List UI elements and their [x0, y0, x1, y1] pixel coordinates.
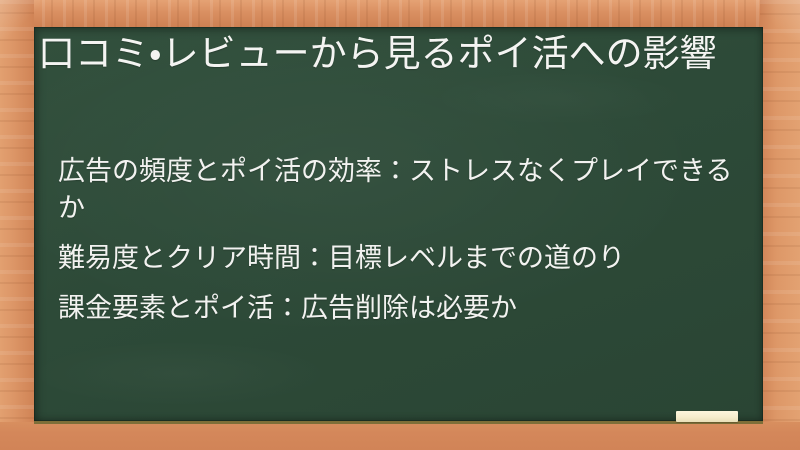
frame-rail-right: [760, 0, 800, 450]
chalkboard-slide: 口コミ・レビューから見るポイ活への影響 広告の頻度とポイ活の効率：ストレスなくプ…: [0, 0, 800, 450]
frame-rail-left: [0, 0, 34, 450]
frame-rail-top: [0, 0, 800, 28]
bullet-list: 広告の頻度とポイ活の効率：ストレスなくプレイできるか 難易度とクリア時間：目標レ…: [58, 153, 748, 327]
chalkboard-surface: 口コミ・レビューから見るポイ活への影響 広告の頻度とポイ活の効率：ストレスなくプ…: [34, 27, 763, 421]
board-bottom-lip: [34, 421, 763, 424]
bullet-item-3: 課金要素とポイ活：広告削除は必要か: [58, 290, 748, 327]
chalk-stick-icon: [676, 411, 738, 422]
bullet-item-2: 難易度とクリア時間：目標レベルまでの道のり: [58, 240, 748, 277]
bullet-item-1: 広告の頻度とポイ活の効率：ストレスなくプレイできるか: [58, 153, 748, 227]
slide-title: 口コミ・レビューから見るポイ活への影響: [38, 30, 738, 78]
frame-ledge-bottom: [0, 422, 800, 450]
slide-content: 口コミ・レビューから見るポイ活への影響 広告の頻度とポイ活の効率：ストレスなくプ…: [34, 27, 763, 421]
